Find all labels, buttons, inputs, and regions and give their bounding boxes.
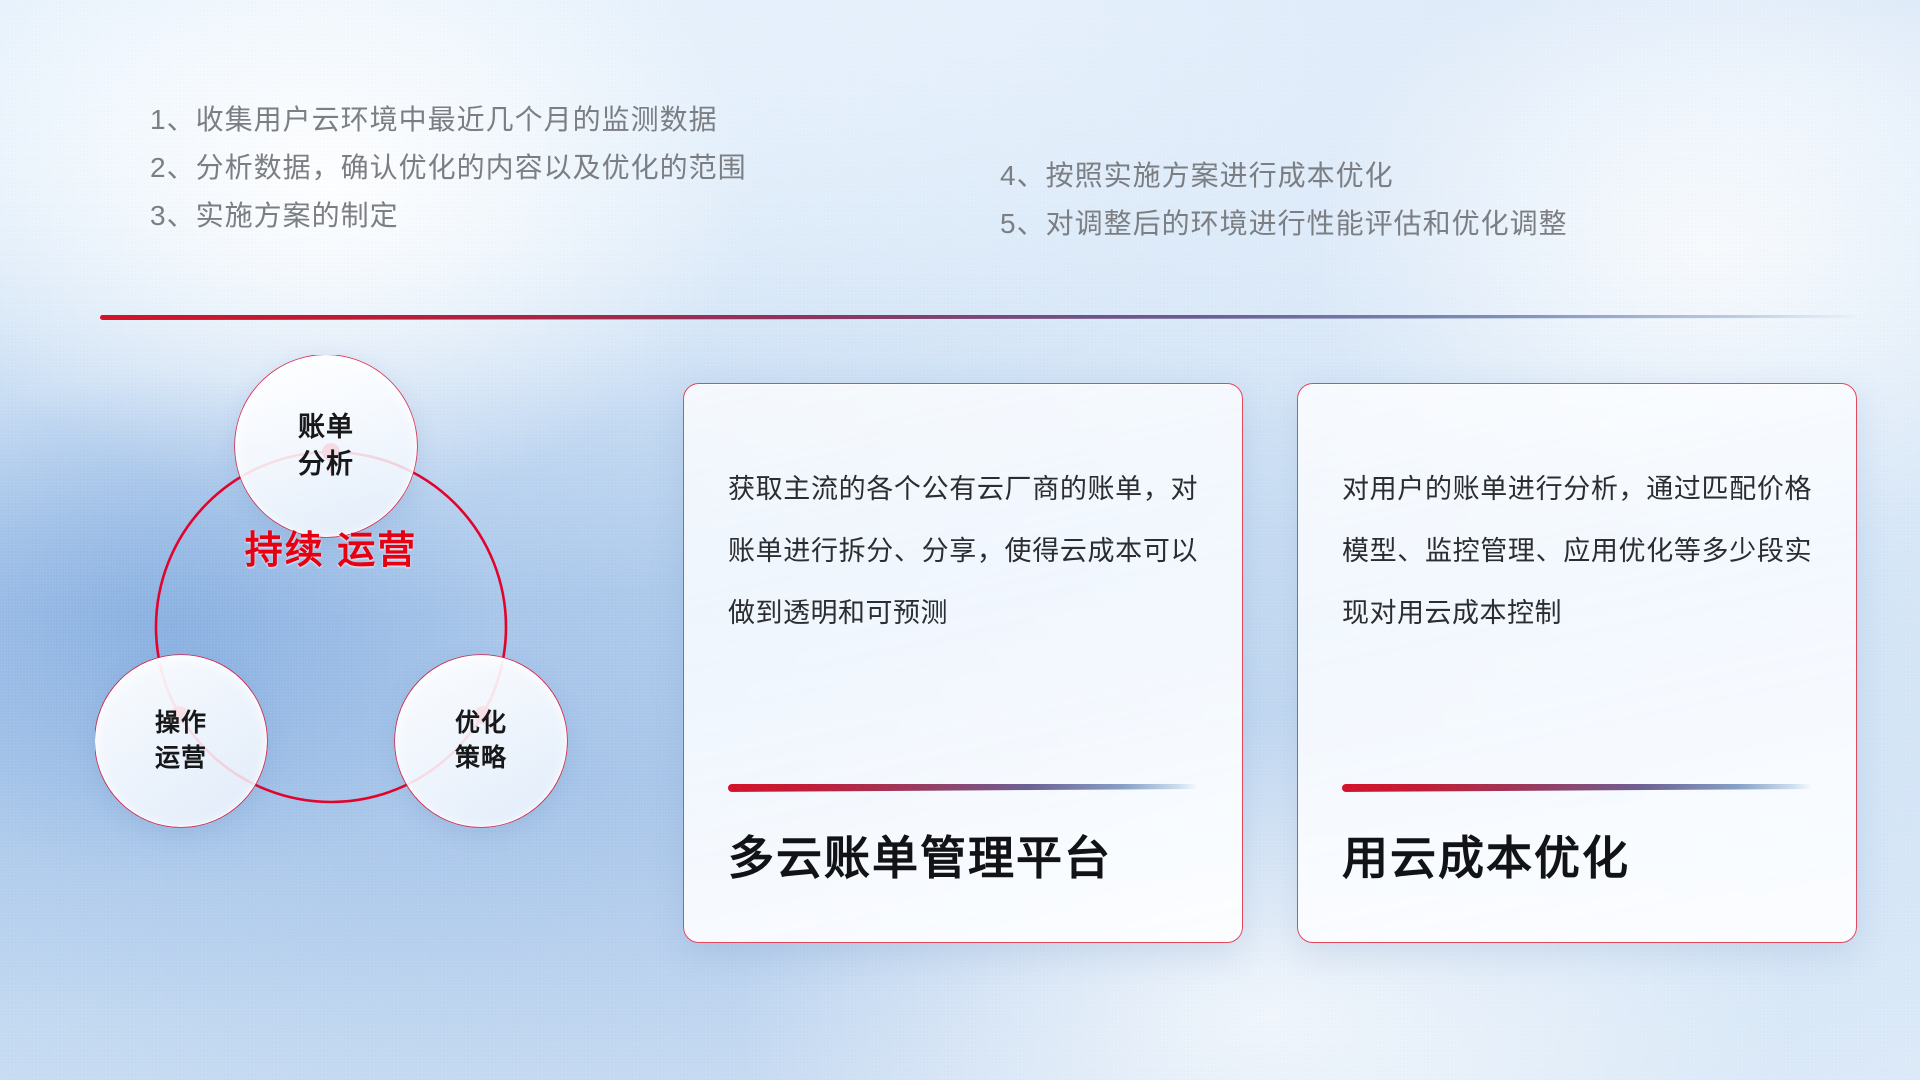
- card-multi-cloud-billing[interactable]: 获取主流的各个公有云厂商的账单，对账单进行拆分、分享，使得云成本可以做到透明和可…: [683, 383, 1243, 943]
- center-label-line1: 持续: [245, 530, 325, 572]
- list-item: 4、按照实施方案进行成本优化: [1000, 152, 1568, 200]
- list-item: 1、收集用户云环境中最近几个月的监测数据: [150, 96, 747, 144]
- diagram-node-optimization-strategy[interactable]: 优化 策略: [395, 655, 567, 827]
- diagram-node-operation[interactable]: 操作 运营: [95, 655, 267, 827]
- steps-column-right: 4、按照实施方案进行成本优化 5、对调整后的环境进行性能评估和优化调整: [1000, 152, 1568, 248]
- node-label-line2: 运营: [155, 741, 207, 776]
- list-item: 2、分析数据，确认优化的内容以及优化的范围: [150, 144, 747, 192]
- card-divider: [728, 784, 1198, 792]
- card-divider: [1342, 784, 1812, 792]
- diagram-center-label: 持续 运营: [231, 527, 431, 575]
- list-item: 5、对调整后的环境进行性能评估和优化调整: [1000, 200, 1568, 248]
- node-label-line1: 操作: [155, 706, 207, 741]
- process-steps-list: 1、收集用户云环境中最近几个月的监测数据 2、分析数据，确认优化的内容以及优化的…: [0, 0, 1920, 250]
- card-title: 用云成本优化: [1342, 792, 1812, 942]
- list-item: 3、实施方案的制定: [150, 192, 747, 240]
- feature-cards: 获取主流的各个公有云厂商的账单，对账单进行拆分、分享，使得云成本可以做到透明和可…: [683, 383, 1857, 943]
- diagram-node-bill-analysis[interactable]: 账单 分析: [235, 355, 417, 537]
- card-body-text: 对用户的账单进行分析，通过匹配价格模型、监控管理、应用优化等多少段实现对用云成本…: [1342, 458, 1812, 644]
- card-title: 多云账单管理平台: [728, 792, 1198, 942]
- node-label-line1: 优化: [455, 706, 507, 741]
- node-label-line2: 分析: [298, 446, 354, 483]
- node-label-line1: 账单: [298, 409, 354, 446]
- node-label-line2: 策略: [455, 741, 507, 776]
- card-cloud-cost-optimization[interactable]: 对用户的账单进行分析，通过匹配价格模型、监控管理、应用优化等多少段实现对用云成本…: [1297, 383, 1857, 943]
- steps-column-left: 1、收集用户云环境中最近几个月的监测数据 2、分析数据，确认优化的内容以及优化的…: [150, 96, 747, 240]
- continuous-operation-diagram: 账单 分析 操作 运营 优化 策略 持续 运营: [95, 355, 635, 955]
- center-label-line2: 运营: [337, 530, 417, 572]
- card-body-text: 获取主流的各个公有云厂商的账单，对账单进行拆分、分享，使得云成本可以做到透明和可…: [728, 458, 1198, 644]
